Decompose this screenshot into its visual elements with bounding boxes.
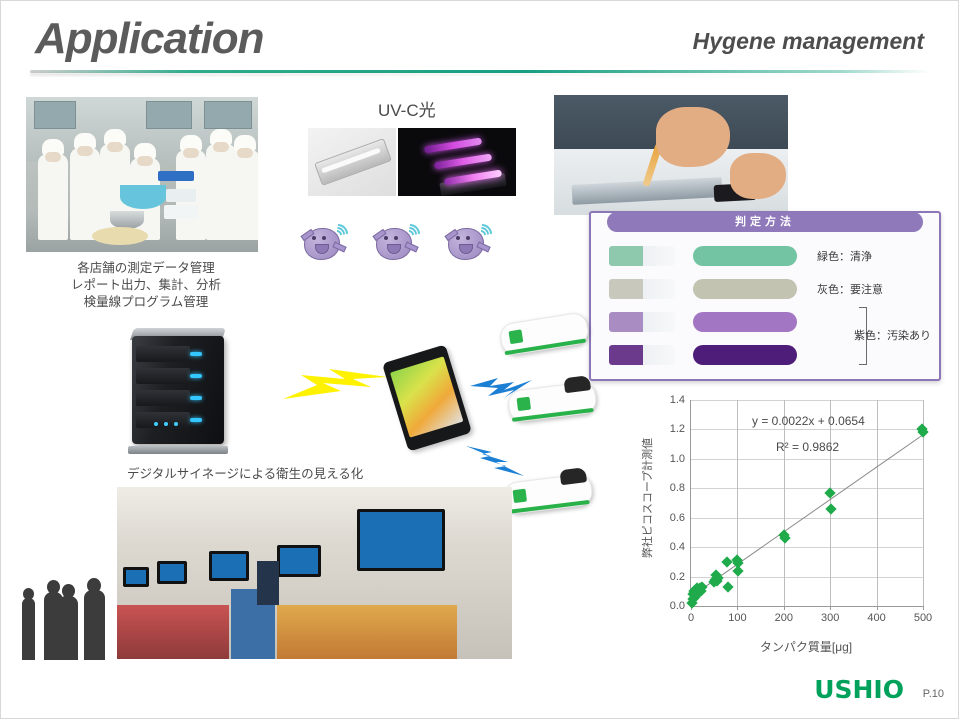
determination-label: 灰色：要注意 (817, 281, 883, 297)
chart-y-tick-label: 1.0 (670, 453, 685, 465)
chart-x-tick-label: 500 (914, 612, 932, 624)
chart-equation: y = 0.0022x + 0.0654 (752, 414, 865, 428)
slide-root: Application Hygene management UV-C光 (0, 0, 960, 720)
swab-sample-image (609, 345, 675, 365)
device-indicator (517, 397, 531, 411)
device-cap (559, 467, 587, 485)
ushio-logo: USHIO (814, 675, 904, 704)
germ-eye (456, 236, 460, 240)
server-drive-bay (136, 368, 190, 384)
digital-signage-screen (157, 561, 187, 584)
chart-gridline (691, 577, 923, 578)
server-led (190, 396, 202, 400)
germ-eye (466, 236, 470, 240)
chart-y-axis-title: 弊社ピコスコープ計測値 (639, 423, 655, 573)
page-number: P.10 (923, 688, 944, 700)
store-ceiling (117, 487, 512, 542)
data-management-line: 各店舗の測定データ管理 (32, 260, 260, 277)
chart-y-tick-label: 0.6 (670, 512, 685, 524)
swab-tip-color (609, 246, 643, 266)
germ-character-icon (300, 222, 346, 262)
person-silhouette-head (23, 588, 34, 600)
device-cap (563, 375, 591, 393)
chart-x-tick-label: 0 (688, 612, 694, 624)
color-swatch (693, 345, 797, 365)
swab-tip-color (609, 345, 643, 365)
kitchen-window (34, 101, 76, 129)
chart-x-tick-label: 200 (775, 612, 793, 624)
server-status-dot (164, 422, 168, 426)
server-base (128, 446, 228, 454)
uv-tube-glow (424, 138, 482, 154)
chart-x-tick (737, 606, 738, 610)
swab-sample-image (609, 312, 675, 332)
store-shelf (277, 605, 457, 659)
person-silhouette-head (47, 580, 60, 594)
chart-x-tick-label: 100 (728, 612, 746, 624)
wifi-signal-icon (474, 222, 490, 236)
person-silhouette-head (87, 578, 101, 593)
server-led (190, 352, 202, 356)
chart-plot-area: 0.00.20.40.60.81.01.21.40100200300400500 (690, 400, 923, 607)
kitchen-worker (70, 148, 100, 240)
data-management-line: レポート出力、集計、分析 (32, 277, 260, 294)
kitchen-window (146, 101, 192, 129)
chart-gridline (877, 400, 878, 606)
wifi-signal-icon (402, 222, 418, 236)
digital-signage-screen (357, 509, 445, 571)
chart-x-tick (877, 606, 878, 610)
uv-lamp-on-photo (398, 128, 516, 196)
chart-data-point (722, 556, 733, 567)
digital-signage-screen (277, 545, 321, 577)
yellow-lightning-bolt-icon (283, 355, 391, 415)
swab-tip-color (609, 312, 643, 332)
device-indicator (513, 489, 527, 503)
chart-gridline (691, 547, 923, 548)
chart-y-tick-label: 0.0 (670, 600, 685, 612)
handheld-reader-device (497, 306, 588, 359)
germ-eye (384, 236, 388, 240)
kitchen-worker (230, 150, 258, 240)
chart-x-axis-title: タンパク質量[μg] (690, 638, 922, 655)
kitchen-tray (164, 205, 198, 219)
chart-gridline (691, 488, 923, 489)
server-drive-bay (136, 390, 190, 406)
chart-r-squared: R² = 0.9862 (776, 440, 839, 454)
page-title: Application (35, 14, 264, 64)
determination-method-title: 判定方法 (607, 212, 923, 232)
uvc-light-label: UV-C光 (378, 96, 436, 121)
kitchen-tray (166, 189, 196, 202)
supermarket-signage-photo (117, 487, 512, 659)
header-divider-shadow (30, 73, 930, 76)
kitchen-food (92, 227, 148, 245)
chart-y-tick-label: 0.4 (670, 541, 685, 553)
hand-steadying-knife (730, 153, 786, 199)
uv-lamp-off-photo (308, 128, 396, 196)
kitchen-window (204, 101, 252, 129)
chart-data-point (825, 503, 836, 514)
swab-sample-image (609, 246, 675, 266)
server-status-dot (174, 422, 178, 426)
contamination-label: 紫色：汚染あり (854, 327, 931, 343)
calibration-scatter-chart: 0.00.20.40.60.81.01.21.40100200300400500… (634, 386, 949, 666)
person-silhouette (22, 598, 35, 660)
person-silhouette (84, 590, 105, 660)
data-management-caption: 各店舗の測定データ管理 レポート出力、集計、分析 検量線プログラム管理 (32, 260, 260, 311)
hand-holding-swab (656, 107, 730, 167)
store-shelf (117, 605, 229, 659)
germ-eye (312, 236, 316, 240)
server-led (190, 418, 202, 422)
chart-x-tick (830, 606, 831, 610)
kitchen-crate (158, 171, 194, 181)
chart-gridline (691, 518, 923, 519)
store-shopper (257, 561, 279, 605)
determination-label: 緑色：清浄 (817, 248, 872, 264)
chart-y-tick-label: 1.2 (670, 423, 685, 435)
determination-row: 灰色：要注意 (601, 272, 931, 305)
server-tower-image (122, 326, 240, 456)
signage-caption: デジタルサイネージによる衛生の見える化 (127, 463, 363, 482)
device-indicator (508, 329, 523, 344)
server-drive-bay (136, 346, 190, 362)
person-silhouette (58, 596, 78, 660)
chart-gridline (784, 400, 785, 606)
person-silhouette-head (62, 584, 75, 598)
server-led (190, 374, 202, 378)
chart-gridline (691, 400, 923, 401)
color-swatch (693, 279, 797, 299)
chart-x-tick-label: 400 (867, 612, 885, 624)
germ-character-icon (372, 222, 418, 262)
kitchen-worker (38, 154, 68, 240)
kitchen-staff-photo (26, 97, 258, 252)
color-swatch (693, 312, 797, 332)
chart-x-tick (784, 606, 785, 610)
server-status-dot (154, 422, 158, 426)
chart-gridline (691, 429, 923, 430)
chart-y-tick-label: 1.4 (670, 394, 685, 406)
tablet-screen (390, 356, 463, 437)
determination-method-panel: 判定方法 緑色：清浄 灰色：要注意 (589, 211, 941, 381)
data-management-line: 検量線プログラム管理 (32, 294, 260, 311)
germ-eye (394, 236, 398, 240)
tablet-device-image (382, 344, 472, 451)
swab-tip-color (609, 279, 643, 299)
chart-y-tick-label: 0.8 (670, 482, 685, 494)
server-drive-bay (136, 412, 190, 428)
page-subtitle: Hygene management (693, 28, 924, 55)
swab-sampling-photo (554, 95, 788, 215)
wifi-signal-icon (330, 222, 346, 236)
chart-x-tick (923, 606, 924, 610)
determination-row: 緑色：清浄 (601, 239, 931, 272)
chart-x-tick-label: 300 (821, 612, 839, 624)
uv-tube-glow (434, 154, 492, 170)
determination-rows: 緑色：清浄 灰色：要注意 (601, 239, 931, 371)
swab-sample-image (609, 279, 675, 299)
kitchen-blue-bowl (120, 185, 166, 209)
digital-signage-screen (123, 567, 149, 587)
chart-data-point (722, 581, 733, 592)
chart-y-tick-label: 0.2 (670, 571, 685, 583)
germ-eye (322, 236, 326, 240)
digital-signage-screen (209, 551, 249, 581)
color-swatch (693, 246, 797, 266)
server-chassis (132, 336, 224, 444)
germ-character-icon (444, 222, 490, 262)
